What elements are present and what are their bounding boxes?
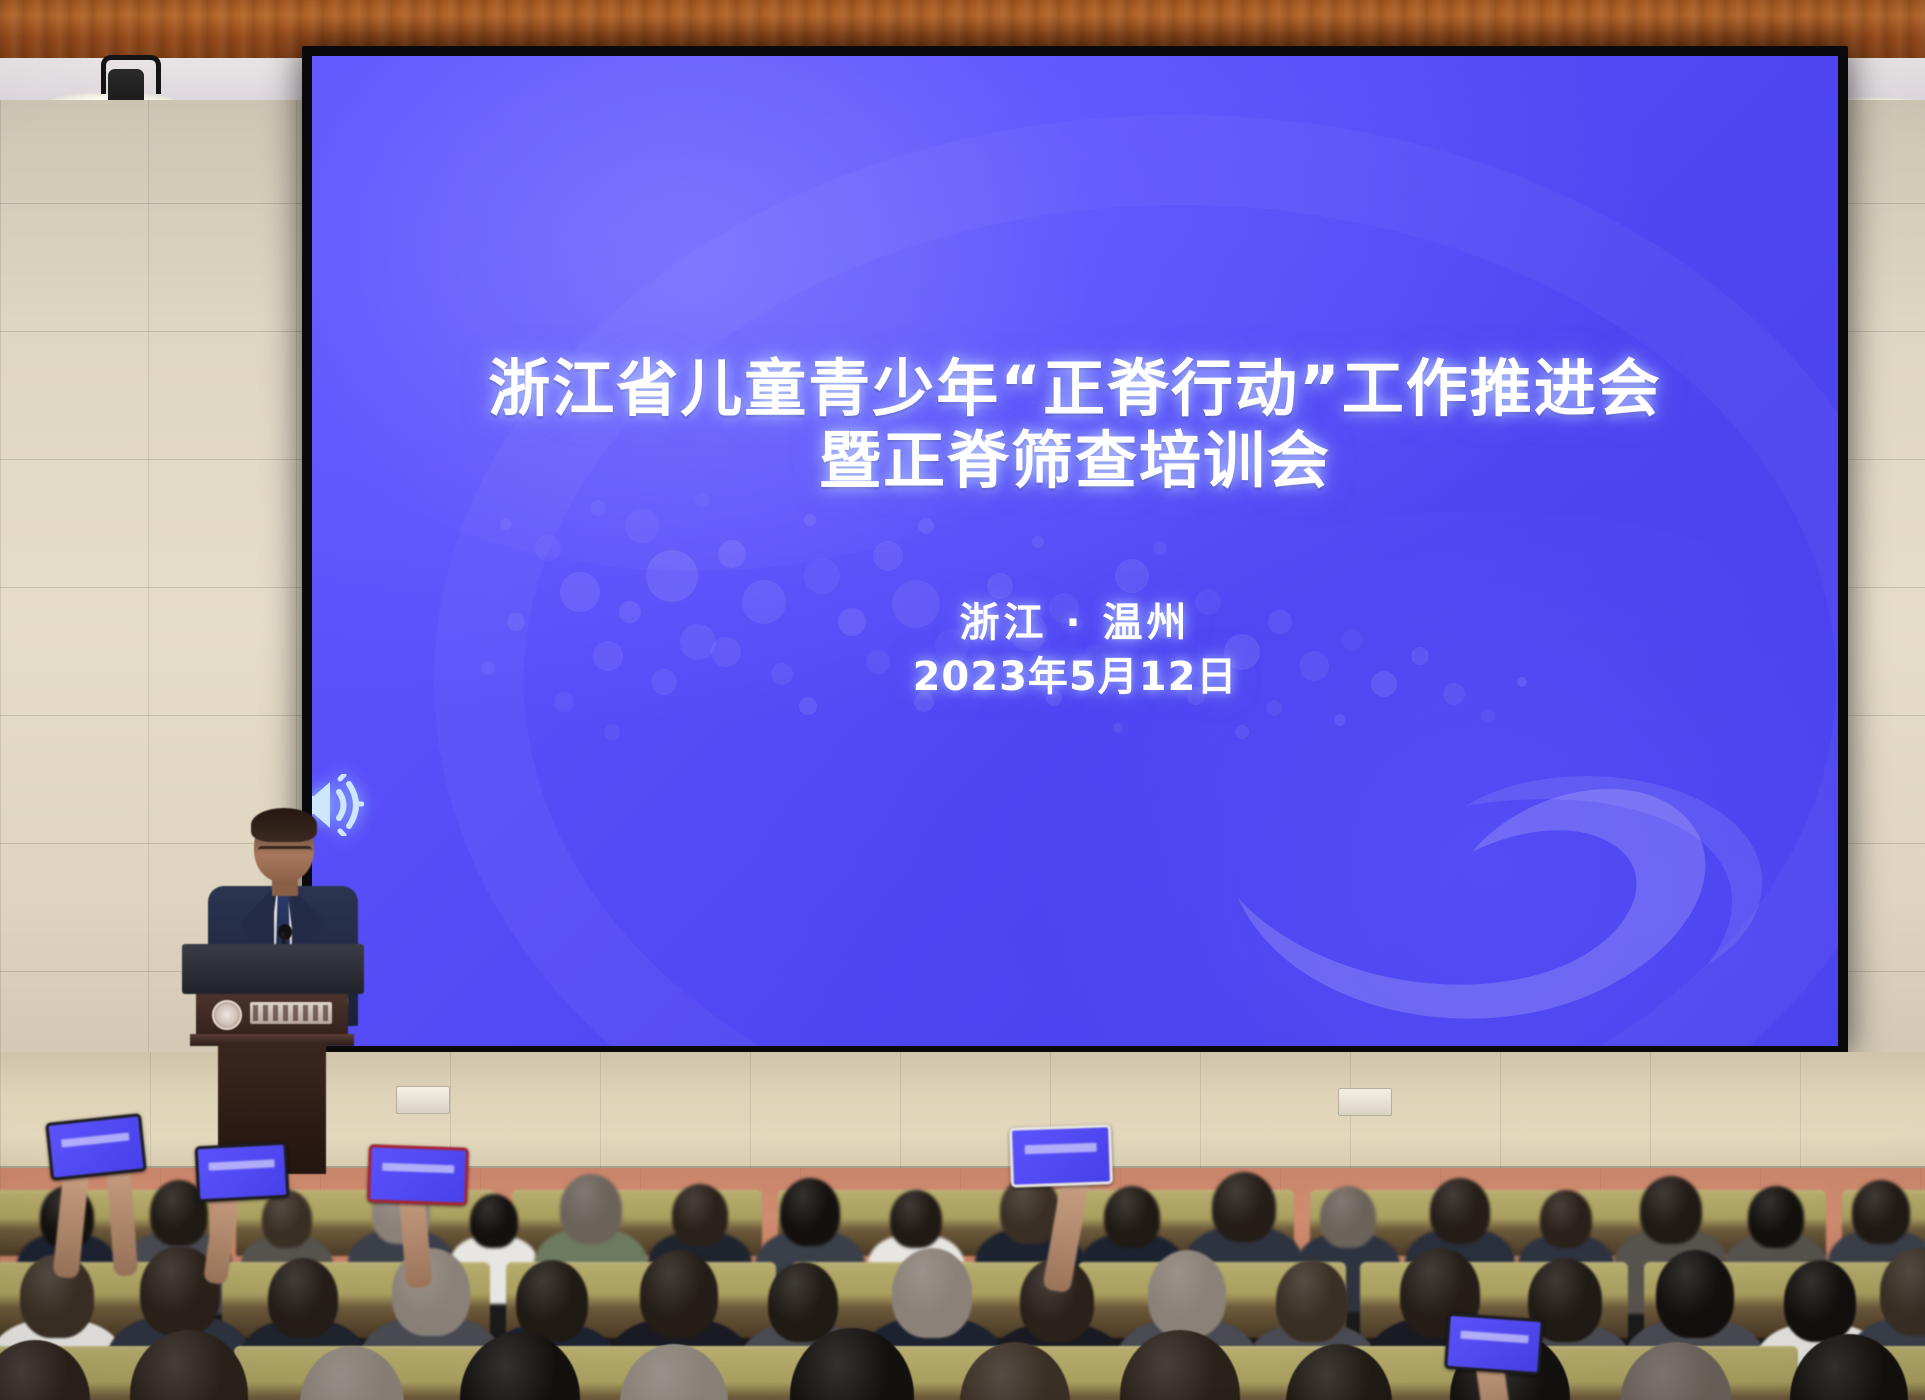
- attendee-head: [560, 1174, 622, 1244]
- attendee-head: [890, 1190, 942, 1248]
- phone-raised-2: [195, 1142, 290, 1203]
- attendee-head: [268, 1258, 338, 1338]
- phone-screen: [49, 1116, 144, 1177]
- phone-screen: [1447, 1316, 1540, 1372]
- attendee-head: [672, 1184, 728, 1246]
- slide-location: 浙江 · 温州: [312, 596, 1838, 650]
- audience-area: [0, 1150, 1925, 1400]
- attendee-head: [780, 1178, 840, 1246]
- attendee-head: [1430, 1178, 1490, 1244]
- presenter-hair: [251, 808, 317, 842]
- attendee-head: [1276, 1260, 1348, 1342]
- attendee-head: [1540, 1190, 1592, 1248]
- podium-head: [196, 992, 348, 1038]
- attendee-head: [516, 1260, 588, 1342]
- phone-raised-1: [45, 1113, 147, 1181]
- attendee-head: [640, 1250, 718, 1338]
- attendee-head: [892, 1248, 972, 1338]
- wall-outlet-left: [396, 1086, 450, 1114]
- attendee-head: [1656, 1250, 1734, 1338]
- attendee-head: [1320, 1186, 1376, 1248]
- slide-date: 2023年5月12日: [312, 650, 1838, 704]
- phone-raised-3: [367, 1144, 469, 1205]
- auditorium-photo: 浙江省儿童青少年“正脊行动”工作推进会 暨正脊筛查培训会 浙江 · 温州 202…: [0, 0, 1925, 1400]
- slide-title: 浙江省儿童青少年“正脊行动”工作推进会 暨正脊筛查培训会: [312, 353, 1838, 497]
- attendee-head: [1104, 1186, 1160, 1248]
- slide-text-block: 浙江省儿童青少年“正脊行动”工作推进会 暨正脊筛查培训会 浙江 · 温州 202…: [312, 56, 1838, 1046]
- slide-title-line2: 暨正脊筛查培训会: [312, 425, 1838, 497]
- attendee-head: [1640, 1176, 1702, 1244]
- attendee-head: [1212, 1172, 1276, 1242]
- projection-screen: 浙江省儿童青少年“正脊行动”工作推进会 暨正脊筛查培训会 浙江 · 温州 202…: [312, 56, 1838, 1046]
- phone-screen: [1012, 1127, 1110, 1184]
- phone-screen: [370, 1147, 466, 1202]
- slide-title-line1: 浙江省儿童青少年“正脊行动”工作推进会: [312, 353, 1838, 425]
- attendee-head: [470, 1194, 518, 1248]
- attendee-head: [1852, 1180, 1910, 1244]
- attendee-head: [1148, 1250, 1226, 1338]
- presenter-glasses: [258, 846, 312, 861]
- attendee-head: [1784, 1260, 1856, 1342]
- wall-outlet-right: [1338, 1088, 1392, 1116]
- podium-desktop: [182, 944, 364, 994]
- attendee-head: [768, 1262, 838, 1342]
- slide-subtitle: 浙江 · 温州 2023年5月12日: [312, 596, 1838, 704]
- podium-nameplate: [250, 1002, 332, 1024]
- phone-raised-5: [1444, 1313, 1544, 1376]
- attendee-head: [1748, 1186, 1804, 1248]
- attendee-head: [262, 1190, 312, 1248]
- phone-raised-4: [1009, 1124, 1113, 1188]
- institution-emblem: [212, 1000, 242, 1030]
- phone-screen: [198, 1145, 286, 1199]
